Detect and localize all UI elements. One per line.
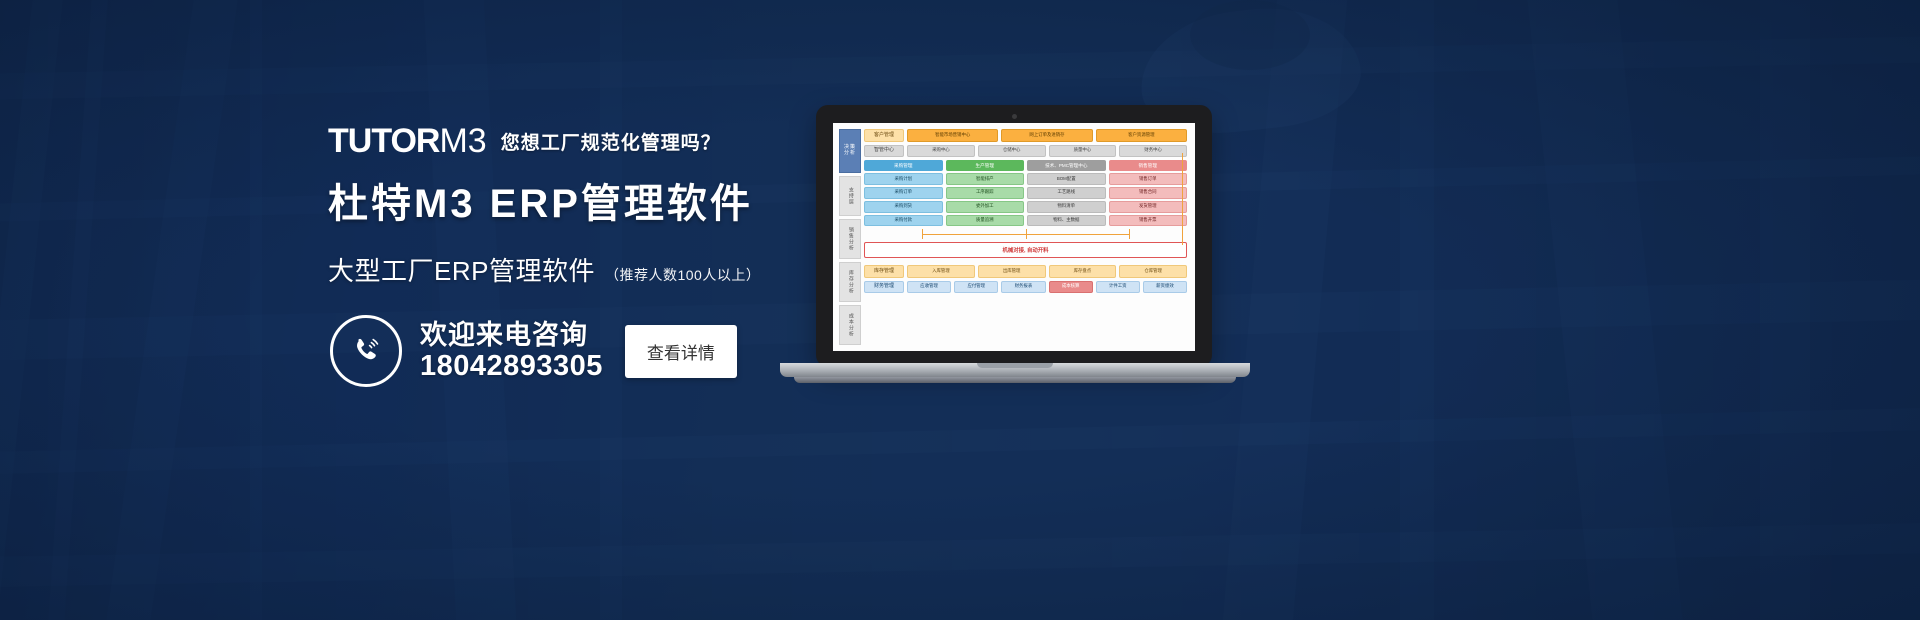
laptop-screen: 决策分析 支持层 销售分析 库存分析 成本分析 客户管理 智能市场营销中心 网上… bbox=[833, 123, 1195, 351]
brand-product: M3 bbox=[439, 122, 486, 160]
phone-call-icon bbox=[330, 315, 402, 387]
rail-item-cost-analysis: 成本分析 bbox=[839, 305, 861, 345]
chip-outbound: 出库管理 bbox=[978, 265, 1046, 278]
chip-bom-config: BOM配置 bbox=[1027, 173, 1106, 185]
chip-online-orders: 网上订单及进销存 bbox=[1001, 129, 1092, 142]
chip-purchase-payment: 采购付款 bbox=[864, 215, 943, 227]
diagram-row-inventory: 库存管理 入库管理 出库管理 库存盘点 仓库管理 bbox=[864, 265, 1187, 278]
diagram-body: 客户管理 智能市场营销中心 网上订单及进销存 客户资源管理 智管中心 采购中心 … bbox=[861, 129, 1187, 345]
rail-item-inventory-analysis: 库存分析 bbox=[839, 262, 861, 302]
cta-invite-text: 欢迎来电咨询 bbox=[420, 320, 603, 350]
diagram-column-technology: 技术、PMC管理中心 BOM配置 工艺路线 物料清单 物料、主数据 bbox=[1027, 160, 1106, 226]
chip-master-data: 物料、主数据 bbox=[1027, 215, 1106, 227]
rail-item-sales-analysis: 销售分析 bbox=[839, 219, 861, 259]
chip-warehouse-center: 仓储中心 bbox=[978, 145, 1046, 158]
chip-smart-scheduling: 智能排产 bbox=[946, 173, 1025, 185]
diagram-column-purchasing: 采购管理 采购计划 采购订单 采购到货 采购付款 bbox=[864, 160, 943, 226]
chip-shipment-mgmt: 发货管理 bbox=[1109, 201, 1188, 213]
cta-phone-number[interactable]: 18042893305 bbox=[420, 350, 603, 382]
cta-group: 欢迎来电咨询 18042893305 查看详情 bbox=[330, 315, 737, 387]
chip-cost-accounting: 成本核算 bbox=[1049, 281, 1093, 294]
hero-banner: TUTORM3 您想工厂规范化管理吗？ 杜特M3 ERP管理软件 大型工厂ERP… bbox=[0, 0, 1920, 620]
chip-purchase-plan: 采购计划 bbox=[864, 173, 943, 185]
diagram-row-center: 智管中心 采购中心 仓储中心 质量中心 财务中心 bbox=[864, 145, 1187, 158]
laptop-mockup: 决策分析 支持层 销售分析 库存分析 成本分析 客户管理 智能市场营销中心 网上… bbox=[780, 105, 1250, 395]
chip-purchase-receipt: 采购到货 bbox=[864, 201, 943, 213]
diagram-highlight-banner: 机械对接, 自动开料 bbox=[864, 242, 1187, 258]
chip-finance-center: 财务中心 bbox=[1119, 145, 1187, 158]
hero-copy: TUTORM3 您想工厂规范化管理吗？ 杜特M3 ERP管理软件 大型工厂ERP… bbox=[328, 118, 848, 288]
chip-sales-contract: 销售合同 bbox=[1109, 187, 1188, 199]
chip-piecework-wages: 计件工资 bbox=[1096, 281, 1140, 294]
subtitle-text: 大型工厂ERP管理软件 bbox=[328, 251, 595, 288]
chip-quality-center: 质量中心 bbox=[1049, 145, 1117, 158]
chip-process-route: 工艺路线 bbox=[1027, 187, 1106, 199]
diagram-column-production: 生产管理 智能排产 工序跟踪 委外加工 质量追溯 bbox=[946, 160, 1025, 226]
cta-text-block: 欢迎来电咨询 18042893305 bbox=[420, 320, 603, 383]
brand-logo: TUTORM3 bbox=[328, 124, 487, 158]
laptop-foot bbox=[794, 377, 1236, 383]
page-title: 杜特M3 ERP管理软件 bbox=[328, 182, 848, 226]
tagline-text: 您想工厂规范化管理吗？ bbox=[501, 128, 721, 158]
rail-item-support: 支持层 bbox=[839, 176, 861, 216]
diagram-side-rail: 决策分析 支持层 销售分析 库存分析 成本分析 bbox=[839, 129, 861, 345]
chip-sales-invoice: 销售开票 bbox=[1109, 215, 1188, 227]
chip-payables: 应付管理 bbox=[954, 281, 998, 294]
chip-purchase-order: 采购订单 bbox=[864, 187, 943, 199]
diagram-row-customer: 客户管理 智能市场营销中心 网上订单及进销存 客户资源管理 bbox=[864, 129, 1187, 142]
brand-tagline-row: TUTORM3 您想工厂规范化管理吗？ bbox=[328, 118, 848, 158]
chip-warehouse-mgmt: 仓库管理 bbox=[1119, 265, 1187, 278]
row-label-finance: 财务管理 bbox=[864, 281, 904, 294]
row-label-inventory: 库存管理 bbox=[864, 265, 904, 278]
column-header-production: 生产管理 bbox=[946, 160, 1025, 171]
subtitle-note: （推荐人数100人以上） bbox=[605, 265, 760, 285]
chip-customer-resources: 客户资源管理 bbox=[1096, 129, 1187, 142]
diagram-row-finance: 财务管理 应收管理 应付管理 财务报表 成本核算 计件工资 薪资绩效 bbox=[864, 281, 1187, 294]
subtitle-row: 大型工厂ERP管理软件 （推荐人数100人以上） bbox=[328, 251, 848, 288]
chip-inbound: 入库管理 bbox=[907, 265, 975, 278]
diagram-column-sales: 销售管理 销售订单 销售合同 发货管理 销售开票 bbox=[1109, 160, 1188, 226]
column-header-sales: 销售管理 bbox=[1109, 160, 1188, 171]
chip-receivables: 应收管理 bbox=[907, 281, 951, 294]
laptop-base bbox=[780, 363, 1250, 377]
diagram-connectors bbox=[864, 229, 1187, 239]
chip-payroll-performance: 薪资绩效 bbox=[1143, 281, 1187, 294]
column-header-technology: 技术、PMC管理中心 bbox=[1027, 160, 1106, 171]
column-header-purchasing: 采购管理 bbox=[864, 160, 943, 171]
chip-financial-reports: 财务报表 bbox=[1001, 281, 1045, 294]
laptop-lid: 决策分析 支持层 销售分析 库存分析 成本分析 客户管理 智能市场营销中心 网上… bbox=[816, 105, 1212, 367]
row-label-customer: 客户管理 bbox=[864, 129, 904, 142]
chip-material-list: 物料清单 bbox=[1027, 201, 1106, 213]
webcam-icon bbox=[1012, 114, 1017, 119]
diagram-vertical-connector bbox=[1182, 153, 1183, 245]
chip-stocktake: 库存盘点 bbox=[1049, 265, 1117, 278]
chip-process-tracking: 工序跟踪 bbox=[946, 187, 1025, 199]
chip-outsourced-processing: 委外加工 bbox=[946, 201, 1025, 213]
view-details-button[interactable]: 查看详情 bbox=[625, 325, 737, 378]
chip-sales-order: 销售订单 bbox=[1109, 173, 1188, 185]
erp-architecture-diagram: 决策分析 支持层 销售分析 库存分析 成本分析 客户管理 智能市场营销中心 网上… bbox=[833, 123, 1195, 351]
chip-purchasing-center: 采购中心 bbox=[907, 145, 975, 158]
rail-item-decision: 决策分析 bbox=[839, 129, 861, 173]
chip-quality-traceability: 质量追溯 bbox=[946, 215, 1025, 227]
chip-smart-marketing: 智能市场营销中心 bbox=[907, 129, 998, 142]
brand-name: TUTOR bbox=[328, 122, 439, 160]
row-label-center: 智管中心 bbox=[864, 145, 904, 158]
diagram-columns: 采购管理 采购计划 采购订单 采购到货 采购付款 生产管理 智能排产 工序跟踪 … bbox=[864, 160, 1187, 226]
